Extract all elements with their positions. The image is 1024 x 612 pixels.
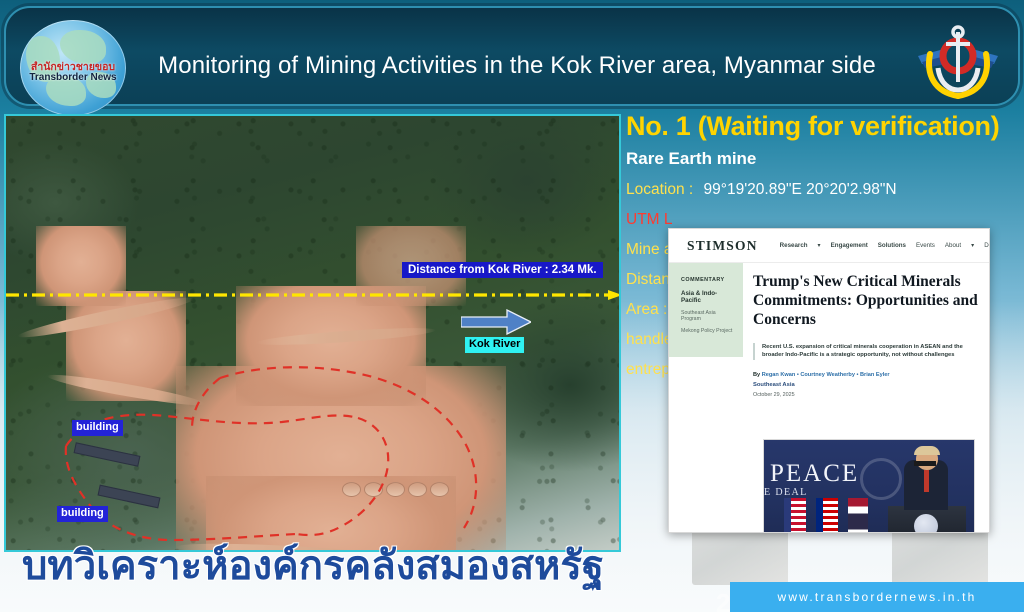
header-bar: สำนักข่าวชายขอบ Transborder News Monitor… — [4, 6, 1020, 106]
stimson-article-screenshot[interactable]: STIMSON Research ▾ Engagement Solutions … — [668, 228, 990, 533]
utm-key: UTM L — [626, 211, 673, 228]
article-main-column: Trump's New Critical Minerals Commitment… — [753, 273, 979, 398]
photo-seal-watermark — [860, 458, 902, 500]
location-row: Location : 99°19'20.89"E 20°20'2.98"N — [626, 181, 1022, 199]
article-program-2[interactable]: Mekong Policy Project — [681, 328, 735, 334]
satellite-image-panel[interactable]: Distance from Kok River : 2.34 Mk. Kok R… — [4, 114, 621, 552]
military-anchor-emblem — [912, 22, 1004, 102]
nav-item-events[interactable]: Events — [916, 242, 935, 249]
distance-from-river-label: Distance from Kok River : 2.34 Mk. — [402, 262, 603, 278]
mine-type: Rare Earth mine — [626, 149, 1022, 169]
article-dek: Recent U.S. expansion of critical minera… — [753, 343, 979, 360]
article-title: Trump's New Critical Minerals Commitment… — [753, 273, 979, 330]
building-label-1: building — [72, 420, 123, 436]
podium-seal-icon — [914, 514, 938, 533]
nav-item-solutions[interactable]: Solutions — [878, 242, 906, 249]
chevron-down-icon-about: ▾ — [971, 242, 974, 249]
byline-authors[interactable]: Regan Kwan • Courtney Weatherby • Brian … — [762, 372, 890, 378]
page-title: Monitoring of Mining Activities in the K… — [102, 52, 932, 80]
article-nav-menu: Research ▾ Engagement Solutions Events A… — [780, 242, 990, 249]
speaker-hair — [914, 446, 940, 455]
handler-key: handle — [626, 331, 673, 348]
article-body: COMMENTARY Asia & Indo-Pacific Southeast… — [669, 263, 989, 533]
article-program-1[interactable]: Southeast Asia Program — [681, 310, 735, 322]
building-label-2: building — [57, 506, 108, 522]
mine-number-status: No. 1 (Waiting for verification) — [626, 112, 1022, 140]
utm-row: UTM L — [626, 211, 1022, 229]
satellite-imagery: Distance from Kok River : 2.34 Mk. Kok R… — [6, 116, 619, 550]
mine-area-key: Mine a — [626, 241, 673, 258]
speaker-tie — [924, 470, 929, 492]
website-url-text: www.transbordernews.in.th — [777, 590, 976, 604]
distance-measure-arrow — [6, 290, 621, 300]
stimson-logo[interactable]: STIMSON — [687, 238, 758, 254]
flag-thailand — [848, 498, 868, 533]
article-category: COMMENTARY — [681, 277, 735, 283]
area-key: Area : — [626, 301, 667, 318]
flag-usa-1 — [784, 498, 806, 533]
website-url-bar[interactable]: www.transbordernews.in.th — [730, 582, 1024, 612]
article-sidebar: COMMENTARY Asia & Indo-Pacific Southeast… — [669, 263, 743, 357]
article-region: Southeast Asia — [753, 382, 979, 388]
location-key: Location : — [626, 181, 693, 198]
nav-item-engagement[interactable]: Engagement — [831, 242, 868, 249]
kok-river-label: Kok River — [465, 337, 524, 353]
photo-peace-text: PEACE — [770, 460, 859, 488]
kok-river-direction-arrow — [461, 309, 531, 335]
article-photo: PEACE E DEAL — [763, 439, 975, 533]
flag-malaysia — [816, 498, 838, 533]
article-navbar: STIMSON Research ▾ Engagement Solutions … — [669, 229, 989, 263]
entrepreneur-key: entrep — [626, 361, 670, 378]
slide-root: 2023 2024 สำนักข่าวชายขอบ Transborder Ne… — [0, 0, 1024, 612]
nav-item-about[interactable]: About — [945, 242, 961, 249]
photo-deal-text: E DEAL — [764, 487, 808, 498]
article-date: October 29, 2025 — [753, 392, 979, 398]
chevron-down-icon-research: ▾ — [818, 242, 821, 249]
photo-redaction-bar — [914, 461, 936, 466]
article-region-tag[interactable]: Asia & Indo-Pacific — [681, 290, 735, 304]
nav-item-donate[interactable]: Donate — [984, 242, 990, 249]
thai-headline: บทวิเคราะห์องค์กรคลังสมองสหรัฐ — [22, 533, 604, 597]
nav-item-research[interactable]: Research — [780, 242, 808, 249]
byline-prefix: By — [753, 372, 760, 378]
article-byline: By Regan Kwan • Courtney Weatherby • Bri… — [753, 372, 979, 378]
location-value: 99°19'20.89"E 20°20'2.98"N — [704, 181, 897, 198]
